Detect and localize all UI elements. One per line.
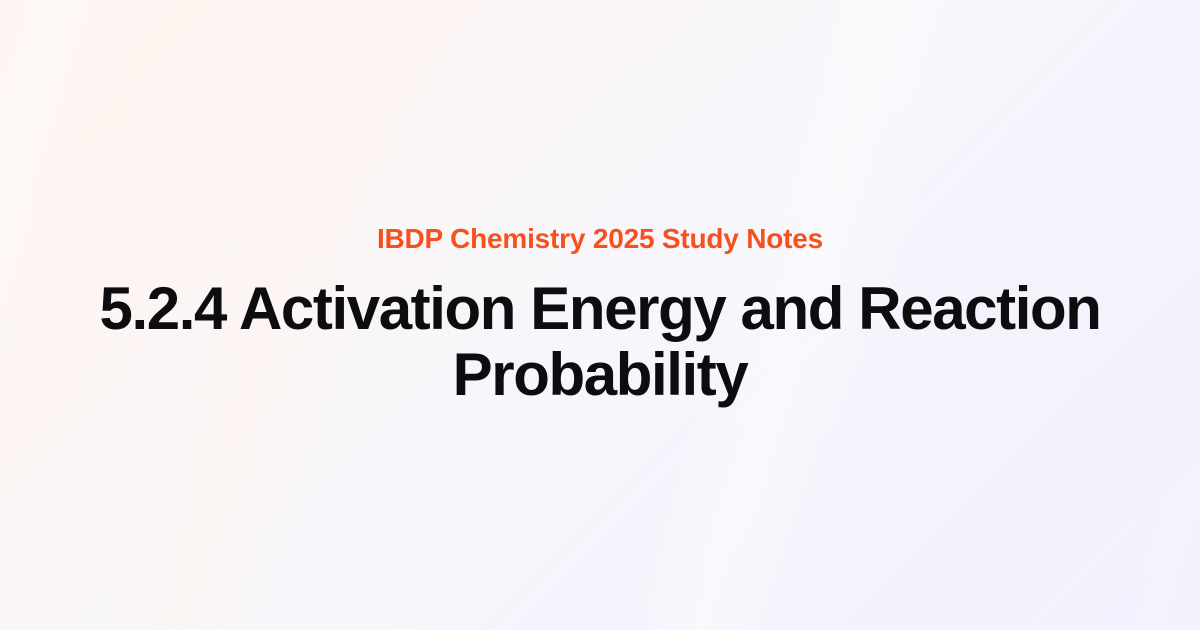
social-share-card: IBDP Chemistry 2025 Study Notes 5.2.4 Ac… [0,0,1200,630]
page-title: 5.2.4 Activation Energy and Reaction Pro… [60,276,1140,408]
card-content: IBDP Chemistry 2025 Study Notes 5.2.4 Ac… [0,0,1200,630]
course-eyebrow-label: IBDP Chemistry 2025 Study Notes [377,222,823,256]
